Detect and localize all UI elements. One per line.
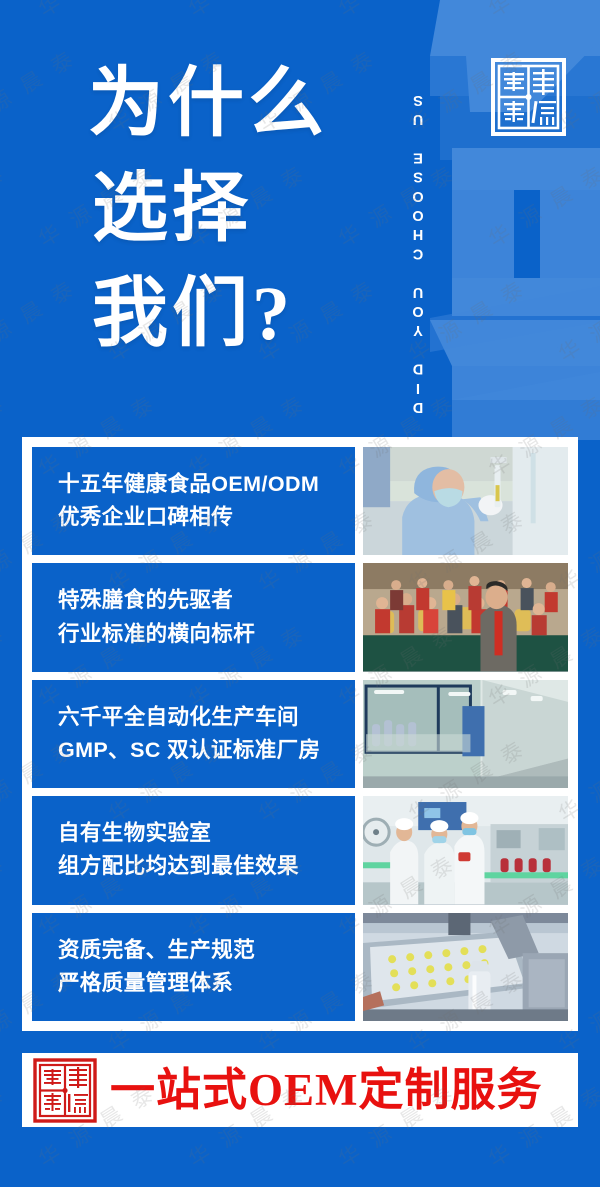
feature-line-2: GMP、SC 双认证标准厂房 [58, 734, 355, 767]
page-title: 为什么 选择 我们? [88, 52, 328, 367]
feature-line-1: 特殊膳食的先驱者 [58, 584, 355, 617]
watermark-text: 华 源 晨 泰 [0, 847, 12, 944]
list-item[interactable]: 十五年健康食品OEM/ODM 优秀企业口碑相传 [32, 447, 568, 555]
list-item[interactable]: 自有生物实验室 组方配比均达到最佳效果 [32, 796, 568, 904]
feature-photo-blister-pack-machine [363, 913, 568, 1021]
brand-seal-red-icon [32, 1056, 98, 1124]
features-frame: 十五年健康食品OEM/ODM 优秀企业口碑相传 [22, 437, 578, 1031]
list-item[interactable]: 资质完备、生产规范 严格质量管理体系 [32, 913, 568, 1021]
feature-photo-cleanroom-corridor [363, 680, 568, 788]
list-item[interactable]: 六千平全自动化生产车间 GMP、SC 双认证标准厂房 [32, 680, 568, 788]
feature-line-1: 自有生物实验室 [58, 817, 355, 850]
brand-seal-white-icon [489, 55, 568, 138]
feature-text-card: 特殊膳食的先驱者 行业标准的横向标杆 [32, 563, 355, 671]
feature-text-card: 自有生物实验室 组方配比均达到最佳效果 [32, 796, 355, 904]
vertical-english-tagline: DID YOU CHOOSE US [410, 20, 438, 415]
title-line-3: 我们? [92, 262, 328, 367]
feature-text-card: 资质完备、生产规范 严格质量管理体系 [32, 913, 355, 1021]
feature-line-1: 资质完备、生产规范 [58, 934, 355, 967]
feature-line-2: 行业标准的横向标杆 [58, 618, 355, 651]
list-item[interactable]: 特殊膳食的先驱者 行业标准的横向标杆 [32, 563, 568, 671]
banner-slogan: 一站式OEM定制服务 [110, 1068, 543, 1113]
feature-line-1: 六千平全自动化生产车间 [58, 701, 355, 734]
header: 为什么 选择 我们? DID YOU CHOOSE US [0, 0, 600, 437]
bottom-banner[interactable]: 一站式OEM定制服务 [22, 1053, 578, 1127]
title-line-2: 选择 [92, 157, 328, 262]
feature-photo-conference-audience [363, 563, 568, 671]
feature-text-card: 十五年健康食品OEM/ODM 优秀企业口碑相传 [32, 447, 355, 555]
features-list: 十五年健康食品OEM/ODM 优秀企业口碑相传 [32, 447, 568, 1021]
feature-photo-production-line-staff [363, 796, 568, 904]
feature-line-2: 优秀企业口碑相传 [58, 501, 355, 534]
feature-line-2: 组方配比均达到最佳效果 [58, 850, 355, 883]
watermark-text: 华 源 晨 泰 [0, 1077, 12, 1174]
feature-line-2: 严格质量管理体系 [58, 967, 355, 1000]
feature-line-1: 十五年健康食品OEM/ODM [58, 468, 355, 501]
watermark-text: 华 源 晨 泰 [0, 617, 12, 714]
poster-root: 为什么 选择 我们? DID YOU CHOOSE US [0, 0, 600, 1187]
feature-photo-lab-technician [363, 447, 568, 555]
title-line-1: 为什么 [88, 52, 328, 157]
feature-text-card: 六千平全自动化生产车间 GMP、SC 双认证标准厂房 [32, 680, 355, 788]
